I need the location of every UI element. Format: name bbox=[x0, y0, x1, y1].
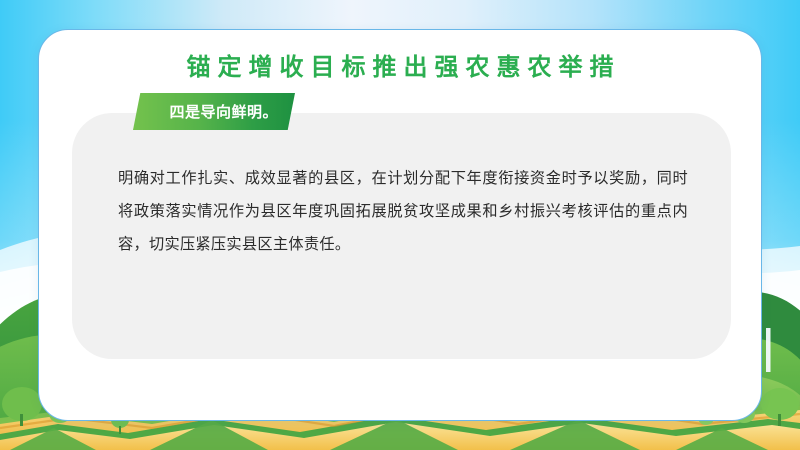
body-paragraph: 明确对工作扎实、成效显著的县区，在计划分配下年度衔接资金时予以奖励，同时将政策落… bbox=[118, 162, 688, 261]
page-title: 锚定增收目标推出强农惠农举措 bbox=[0, 47, 800, 82]
slide-root: 锚定增收目标推出强农惠农举措 四是导向鲜明。 明确对工作扎实、成效显著的县区，在… bbox=[0, 0, 800, 450]
section-tag-label: 四是导向鲜明。 bbox=[133, 93, 295, 130]
section-tag: 四是导向鲜明。 bbox=[133, 93, 295, 130]
